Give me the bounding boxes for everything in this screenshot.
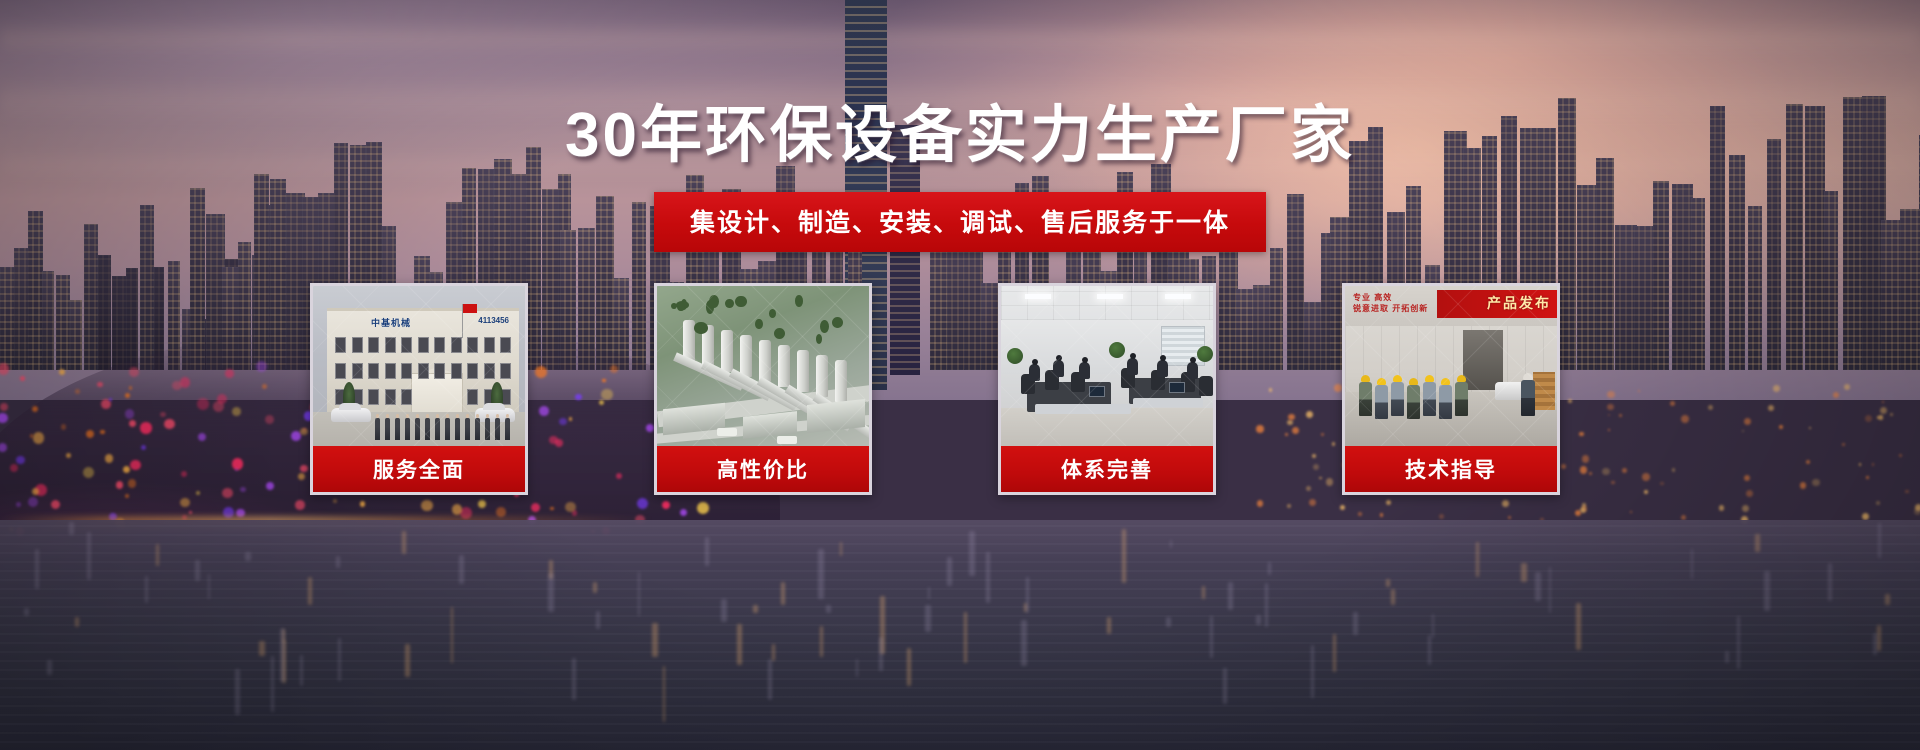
building-window: [434, 337, 445, 353]
building-window: [418, 337, 429, 353]
truck: [717, 428, 737, 436]
building-window: [500, 363, 511, 379]
plant-silo: [797, 350, 809, 392]
staff-figure: [495, 418, 500, 440]
building-window: [467, 363, 478, 379]
building-window: [451, 363, 462, 379]
building-window: [385, 363, 396, 379]
card-caption: 服务全面: [313, 446, 525, 492]
hero-banner: 30年环保设备实力生产厂家 集设计、制造、安装、调试、售后服务于一体 中基机械 …: [0, 0, 1920, 750]
building-window: [467, 337, 478, 353]
employee-figure: [1029, 364, 1040, 381]
building-window: [368, 337, 379, 353]
building-window: [335, 363, 346, 379]
potted-plant: [1109, 342, 1125, 358]
building-window: [484, 363, 495, 379]
building-window: [385, 337, 396, 353]
plant-silo: [778, 345, 790, 387]
subtitle-wrapper: 集设计、制造、安装、调试、售后服务于一体: [0, 192, 1920, 252]
building-window: [335, 337, 346, 353]
staff-figure: [375, 418, 380, 440]
feature-card-row: 中基机械 4113456 服务全面: [310, 283, 1560, 495]
staff-figure: [465, 418, 470, 440]
card-caption: 技术指导: [1345, 446, 1557, 492]
plant-silo: [740, 335, 752, 377]
banner-headline: 30年环保设备实力生产厂家: [0, 100, 1920, 172]
tree: [774, 328, 785, 339]
staff-figure: [395, 418, 400, 440]
building-window: [401, 389, 412, 405]
employee-figure: [1187, 362, 1198, 379]
potted-plant: [1007, 348, 1023, 364]
building-window: [352, 363, 363, 379]
tree: [671, 303, 677, 310]
building-window: [451, 337, 462, 353]
worker-figure: [1439, 385, 1452, 419]
staff-figure: [505, 418, 510, 440]
staff-figure: [455, 418, 460, 440]
tree: [709, 295, 719, 308]
card-caption: 高性价比: [657, 446, 869, 492]
feature-card[interactable]: 体系完善: [998, 283, 1216, 495]
card-photo: 产品发布 专业 高效 锐意进取 开拓创新: [1345, 286, 1557, 452]
tree: [694, 322, 708, 334]
plant-silo: [835, 360, 847, 402]
card-photo: [657, 286, 869, 452]
computer-monitor: [1089, 386, 1105, 397]
tree: [735, 296, 747, 308]
office-chair: [1199, 376, 1213, 396]
tree: [769, 309, 776, 318]
card-photo: [1001, 286, 1213, 452]
tree: [677, 303, 684, 311]
desk-surface: [1133, 398, 1203, 407]
workshop-wall-text: 专业 高效 锐意进取 开拓创新: [1353, 292, 1428, 314]
staff-figure: [475, 418, 480, 440]
supervisor-figure: [1521, 380, 1535, 416]
employee-figure: [1079, 362, 1090, 379]
card-photo: 中基机械 4113456: [313, 286, 525, 452]
tree: [725, 299, 734, 308]
building-window: [401, 337, 412, 353]
tree: [755, 319, 763, 330]
building-window: [434, 363, 445, 379]
tree: [816, 334, 822, 344]
plant-silo: [816, 355, 828, 397]
worker-figure: [1391, 382, 1404, 416]
worker-figure: [1423, 382, 1436, 416]
building-window: [368, 363, 379, 379]
card-caption: 体系完善: [1001, 446, 1213, 492]
feature-card[interactable]: 产品发布 专业 高效 锐意进取 开拓创新: [1342, 283, 1560, 495]
employee-figure: [1127, 358, 1138, 375]
building-window: [467, 389, 478, 405]
worker-figure: [1407, 385, 1420, 419]
staff-figure: [415, 418, 420, 440]
building-window: [418, 363, 429, 379]
feature-card[interactable]: 中基机械 4113456 服务全面: [310, 283, 528, 495]
staff-figure: [485, 418, 490, 440]
company-sign: 中基机械: [371, 316, 411, 329]
building-window: [484, 337, 495, 353]
building-window: [500, 337, 511, 353]
worker-figure: [1359, 382, 1372, 416]
staff-figure: [425, 418, 430, 440]
staff-figure: [385, 418, 390, 440]
plant-building: [743, 411, 797, 439]
tree: [795, 295, 803, 306]
tree: [832, 317, 843, 328]
potted-plant: [1197, 346, 1213, 362]
building-window: [352, 337, 363, 353]
building-window: [401, 363, 412, 379]
feature-card[interactable]: 高性价比: [654, 283, 872, 495]
building-window: [385, 389, 396, 405]
computer-monitor: [1169, 382, 1185, 393]
workshop-banner-text: 产品发布: [1487, 293, 1551, 313]
tree: [820, 320, 829, 333]
employee-figure: [1157, 360, 1168, 377]
desk-surface: [1035, 404, 1131, 414]
building-window: [368, 389, 379, 405]
banner-subtitle-bar: 集设计、制造、安装、调试、售后服务于一体: [654, 192, 1266, 252]
plant-silo: [721, 330, 733, 372]
company-phone: 4113456: [478, 316, 509, 325]
staff-figure: [405, 418, 410, 440]
banner-content: 30年环保设备实力生产厂家 集设计、制造、安装、调试、售后服务于一体 中基机械 …: [0, 0, 1920, 750]
worker-figure: [1455, 382, 1468, 416]
staff-figure: [445, 418, 450, 440]
staff-figure: [435, 418, 440, 440]
truck: [777, 436, 797, 444]
employee-figure: [1053, 360, 1064, 377]
worker-figure: [1375, 385, 1388, 419]
